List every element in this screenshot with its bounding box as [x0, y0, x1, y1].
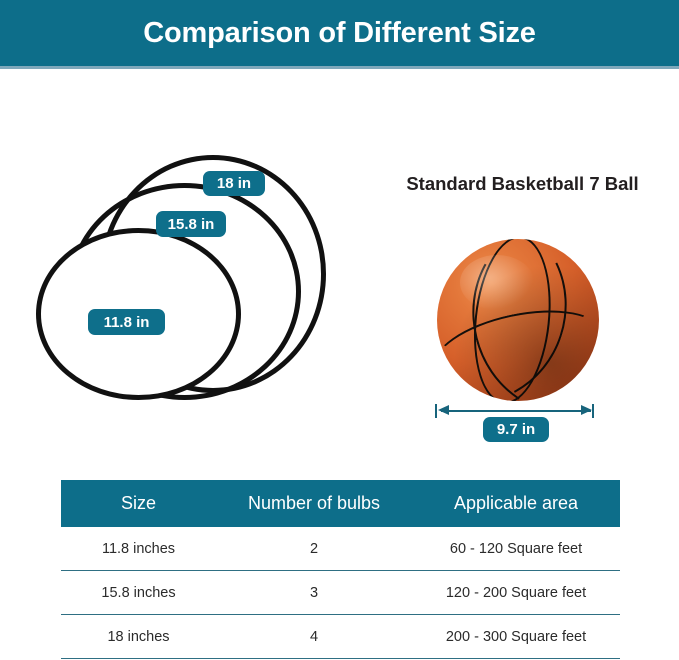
column-header-bulbs: Number of bulbs: [216, 493, 412, 514]
dimension-line: [441, 410, 591, 412]
table-row: 11.8 inches 2 60 - 120 Square feet: [61, 527, 620, 571]
cell-area: 60 - 120 Square feet: [412, 541, 620, 557]
cell-area: 200 - 300 Square feet: [412, 629, 620, 645]
basketball-image: [437, 239, 599, 401]
dimension-cap-left: [435, 404, 437, 418]
size-badge-18in: 18 in: [203, 171, 265, 196]
dimension-arrowhead-right: [581, 405, 592, 415]
cell-bulbs: 4: [216, 629, 412, 645]
specs-table: Size Number of bulbs Applicable area 11.…: [61, 480, 620, 659]
dimension-arrowhead-left: [438, 405, 449, 415]
size-badge-11-8in: 11.8 in: [88, 309, 165, 335]
cell-bulbs: 2: [216, 541, 412, 557]
header-divider: [0, 66, 679, 69]
size-comparison-rings: [0, 140, 360, 420]
dimension-badge-9-7in: 9.7 in: [483, 417, 549, 442]
column-header-area: Applicable area: [412, 493, 620, 514]
size-badge-15-8in: 15.8 in: [156, 211, 226, 237]
dimension-cap-right: [592, 404, 594, 418]
table-row: 18 inches 4 200 - 300 Square feet: [61, 615, 620, 659]
header-bar: Comparison of Different Size: [0, 0, 679, 66]
page-title: Comparison of Different Size: [143, 17, 535, 50]
cell-area: 120 - 200 Square feet: [412, 585, 620, 601]
cell-size: 11.8 inches: [61, 541, 216, 557]
column-header-size: Size: [61, 493, 216, 514]
table-header-row: Size Number of bulbs Applicable area: [61, 480, 620, 527]
cell-bulbs: 3: [216, 585, 412, 601]
table-row: 15.8 inches 3 120 - 200 Square feet: [61, 571, 620, 615]
basketball-shading: [437, 239, 599, 401]
basketball-title: Standard Basketball 7 Ball: [380, 173, 665, 195]
cell-size: 18 inches: [61, 629, 216, 645]
cell-size: 15.8 inches: [61, 585, 216, 601]
basketball-sphere: [437, 239, 599, 401]
